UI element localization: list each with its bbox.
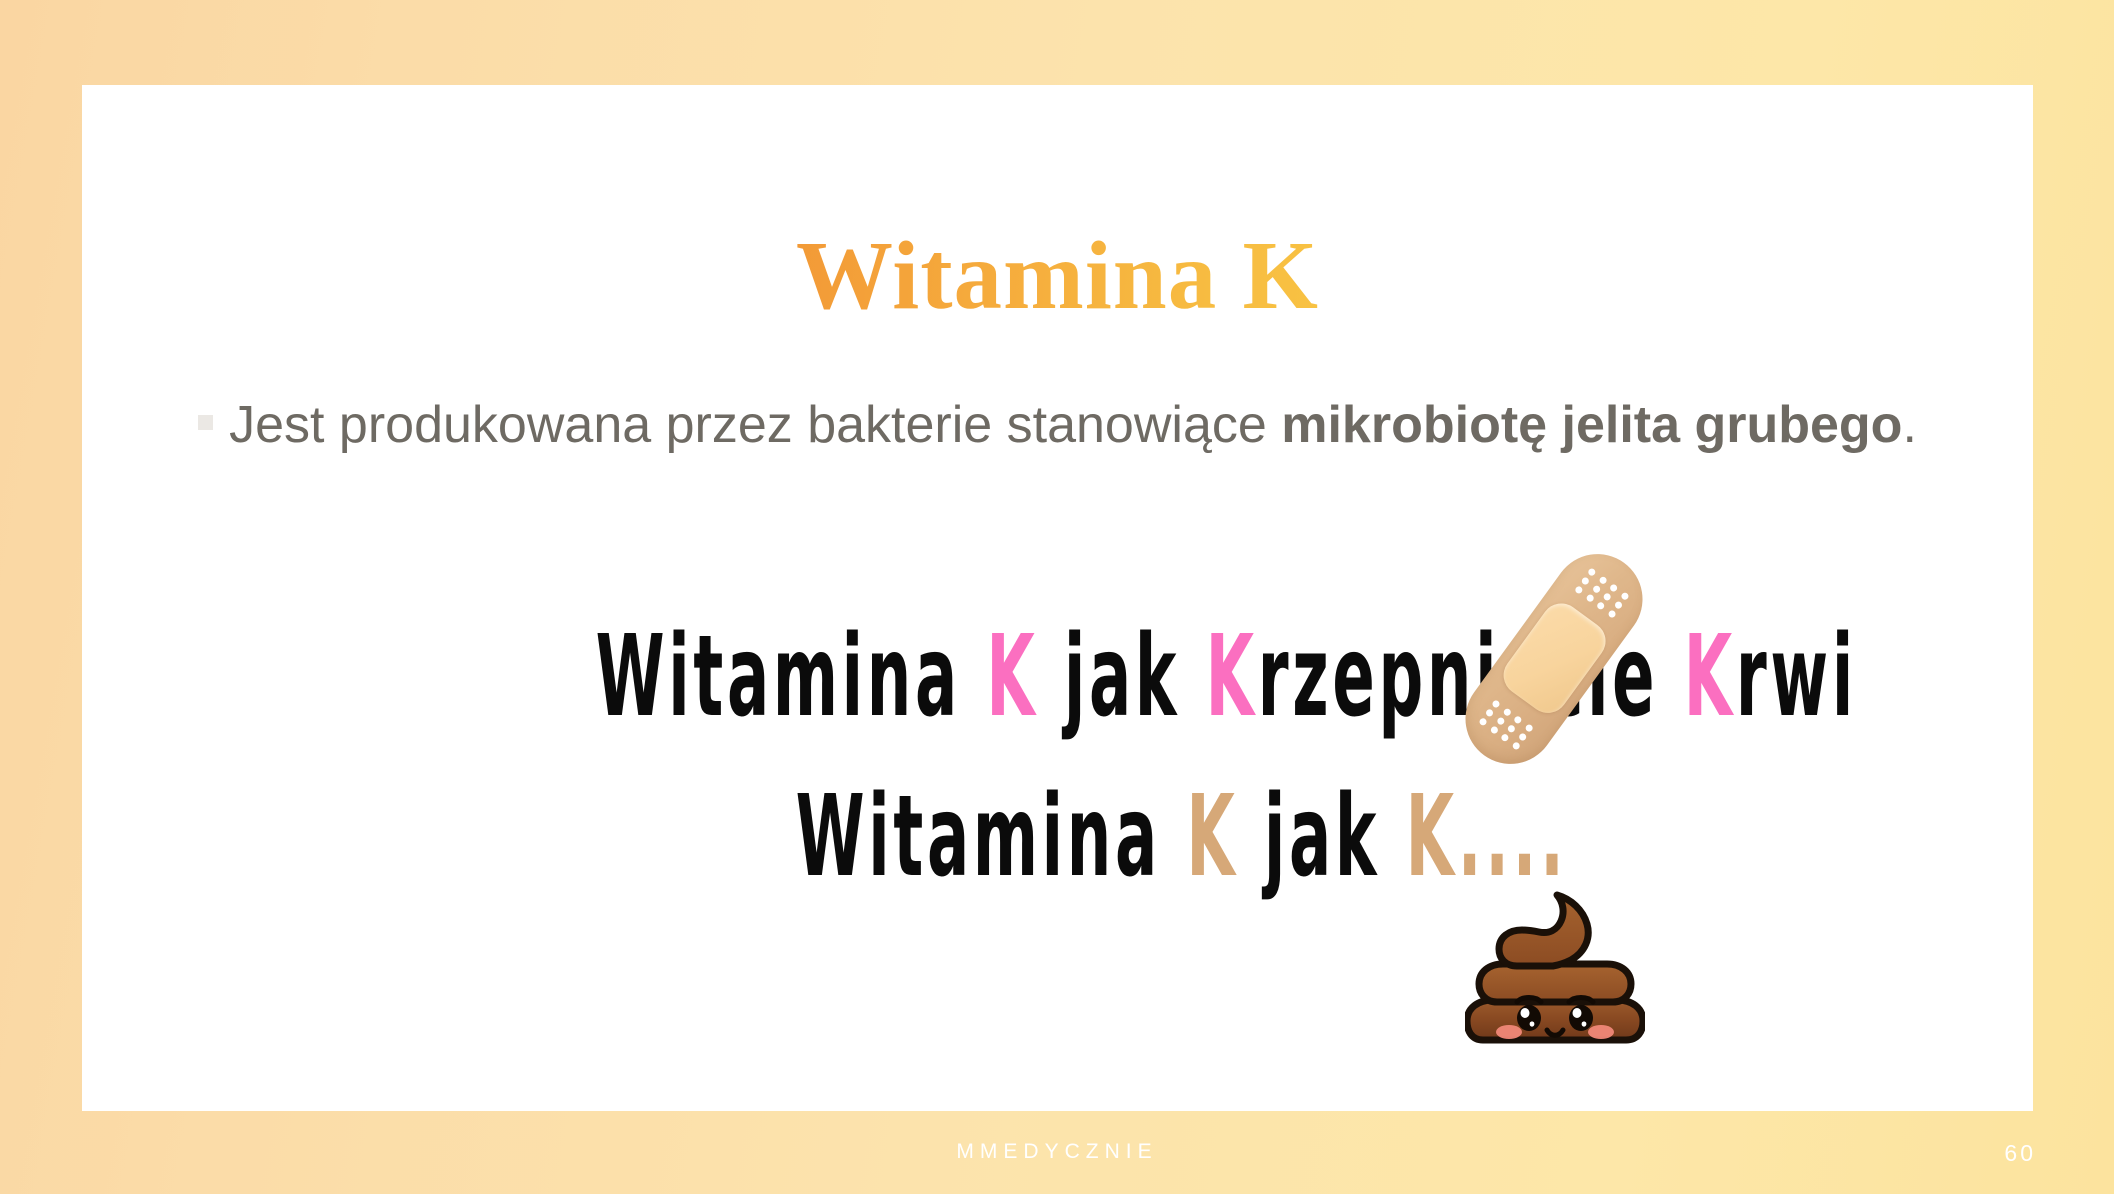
body-paragraph: Jest produkowana przez bakterie stanowią… xyxy=(82,395,2033,457)
footer-brand: MMEDYCZNIE xyxy=(0,1140,2114,1164)
handwritten-line2-seg2: jak xyxy=(1238,772,1405,902)
handwritten-illustration: Witamina K jak Krzepnięcie Krwi Witamina… xyxy=(382,460,1642,790)
handwritten-line2-seg3: K.... xyxy=(1406,772,1568,902)
body-text-bold: mikrobiotę jelita grubego xyxy=(1281,396,1902,454)
handwritten-line2-seg1: K xyxy=(1186,772,1238,902)
handwritten-line1-seg5: K xyxy=(1684,612,1736,742)
body-text-tail: . xyxy=(1902,396,1916,454)
handwritten-line1-seg6: rwi xyxy=(1736,612,1857,742)
page-title: Witamina K xyxy=(82,225,2033,327)
handwritten-line-2: Witamina K jak K.... xyxy=(592,642,1568,1032)
pile-of-poo-icon xyxy=(1465,890,1645,1048)
handwritten-line2-seg0: Witamina xyxy=(796,772,1187,902)
body-text-lead: Jest produkowana przez bakterie stanowią… xyxy=(229,396,1281,454)
square-bullet-icon xyxy=(198,415,213,430)
page-number: 60 xyxy=(2004,1140,2036,1167)
slide: Witamina K Jest produkowana przez bakter… xyxy=(0,0,2114,1194)
slide-content-card: Witamina K Jest produkowana przez bakter… xyxy=(82,85,2033,1111)
